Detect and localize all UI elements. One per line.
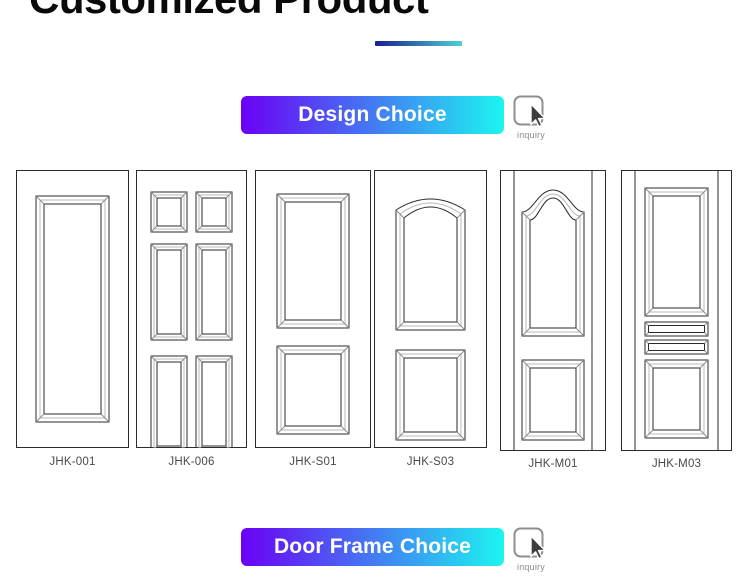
door-frame-choice-inquiry-button[interactable]: inquiry (509, 525, 555, 575)
inquiry-caption: inquiry (509, 562, 553, 572)
page-header: Customized Product (0, 0, 750, 46)
door-card[interactable]: JHK-S01 (255, 168, 371, 478)
door-code-label: JHK-001 (16, 456, 129, 468)
door-frame-choice-button[interactable]: Door Frame Choice (241, 528, 504, 566)
door-frame-choice-label: Door Frame Choice (274, 535, 471, 559)
cursor-arrow-icon (511, 93, 549, 131)
door-illustration (136, 170, 247, 448)
door-frame-choice-section-header: Door Frame Choice inquiry (0, 528, 750, 584)
door-card[interactable]: JHK-001 (16, 168, 129, 478)
door-code-label: JHK-006 (136, 456, 247, 468)
door-code-label: JHK-S03 (374, 456, 487, 468)
design-choice-section-header: Design Choice inquiry (0, 96, 750, 152)
design-choice-inquiry-button[interactable]: inquiry (509, 93, 555, 143)
door-card[interactable]: JHK-006 (136, 168, 247, 478)
cursor-arrow-icon (511, 525, 549, 563)
door-illustration (255, 170, 371, 448)
door-illustration (374, 170, 487, 448)
door-code-label: JHK-M03 (621, 458, 732, 470)
door-design-gallery: JHK-001JHK-006JHK-S01JHK-S03JHK-M01JHK-M… (0, 168, 750, 478)
door-card[interactable]: JHK-S03 (374, 168, 487, 478)
door-code-label: JHK-M01 (500, 458, 606, 470)
door-illustration (500, 170, 606, 451)
door-illustration (16, 170, 129, 448)
title-accent-divider (375, 41, 462, 46)
door-code-label: JHK-S01 (255, 456, 371, 468)
door-illustration (621, 170, 732, 451)
design-choice-label: Design Choice (298, 103, 446, 127)
inquiry-caption: inquiry (509, 130, 553, 140)
door-card[interactable]: JHK-M03 (621, 168, 732, 480)
design-choice-button[interactable]: Design Choice (241, 96, 504, 134)
page-title: Customized Product (29, 0, 428, 22)
door-card[interactable]: JHK-M01 (500, 168, 606, 480)
